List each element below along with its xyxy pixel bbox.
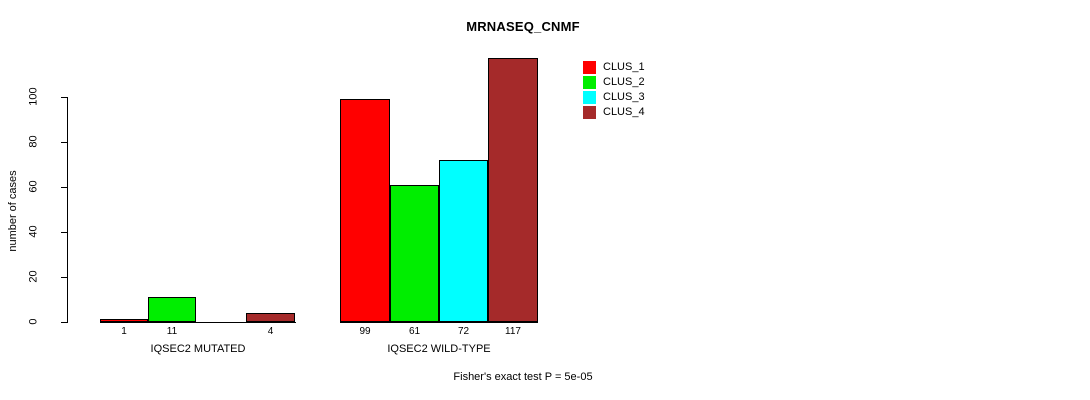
y-axis-tick-100	[61, 97, 67, 98]
y-axis-line	[67, 97, 68, 323]
legend: CLUS_1 CLUS_2 CLUS_3 CLUS_4	[583, 60, 645, 120]
bar-value-group2-clus4: 117	[488, 327, 538, 337]
bar-group2-clus1	[340, 99, 390, 322]
legend-label-clus-4: CLUS_4	[603, 107, 645, 118]
y-axis-tick-40	[61, 232, 67, 233]
y-axis-tick-label-0: 0	[29, 302, 40, 342]
legend-swatch-icon-clus-1	[583, 61, 596, 74]
legend-item-clus-2: CLUS_2	[583, 75, 645, 90]
y-axis-tick-60	[61, 187, 67, 188]
category-label-group-2: IQSEC2 WILD-TYPE	[319, 343, 559, 355]
legend-item-clus-4: CLUS_4	[583, 105, 645, 120]
y-axis-tick-label-20: 20	[29, 257, 40, 297]
bar-group1-clus4	[246, 313, 295, 322]
y-axis-tick-label-100: 100	[29, 77, 40, 117]
bar-group2-clus4	[488, 58, 538, 322]
page-title: MRNASEQ_CNMF	[0, 19, 1068, 34]
bar-value-group1-clus4: 4	[246, 327, 295, 337]
category-label-group-1: IQSEC2 MUTATED	[78, 343, 318, 355]
y-axis-title: number of cases	[7, 151, 19, 271]
bar-value-group1-clus1: 1	[100, 327, 148, 337]
bar-group1-clus1	[100, 319, 148, 322]
legend-swatch-icon-clus-4	[583, 106, 596, 119]
legend-label-clus-1: CLUS_1	[603, 62, 645, 73]
category-axis-group-2	[340, 322, 538, 323]
y-axis-tick-80	[61, 142, 67, 143]
legend-swatch-icon-clus-2	[583, 76, 596, 89]
y-axis-tick-20	[61, 277, 67, 278]
statistical-test-annotation: Fisher's exact test P = 5e-05	[0, 371, 1068, 383]
bar-value-group2-clus3: 72	[439, 327, 488, 337]
bar-value-group1-clus2: 11	[148, 327, 196, 337]
legend-item-clus-1: CLUS_1	[583, 60, 645, 75]
bar-group1-clus2	[148, 297, 196, 322]
legend-swatch-icon-clus-3	[583, 91, 596, 104]
legend-item-clus-3: CLUS_3	[583, 90, 645, 105]
y-axis-tick-0	[61, 322, 67, 323]
legend-label-clus-2: CLUS_2	[603, 77, 645, 88]
legend-label-clus-3: CLUS_3	[603, 92, 645, 103]
category-axis-group-1	[100, 322, 296, 323]
bar-group2-clus2	[390, 185, 439, 322]
bar-group2-clus3	[439, 160, 488, 322]
bar-value-group2-clus1: 99	[340, 327, 390, 337]
bar-chart-plot: MRNASEQ_CNMF 0 20 40 60 80 100 number of…	[0, 0, 1090, 400]
bar-value-group2-clus2: 61	[390, 327, 439, 337]
y-axis-tick-label-60: 60	[29, 167, 40, 207]
y-axis-tick-label-80: 80	[29, 122, 40, 162]
y-axis-tick-label-40: 40	[29, 212, 40, 252]
